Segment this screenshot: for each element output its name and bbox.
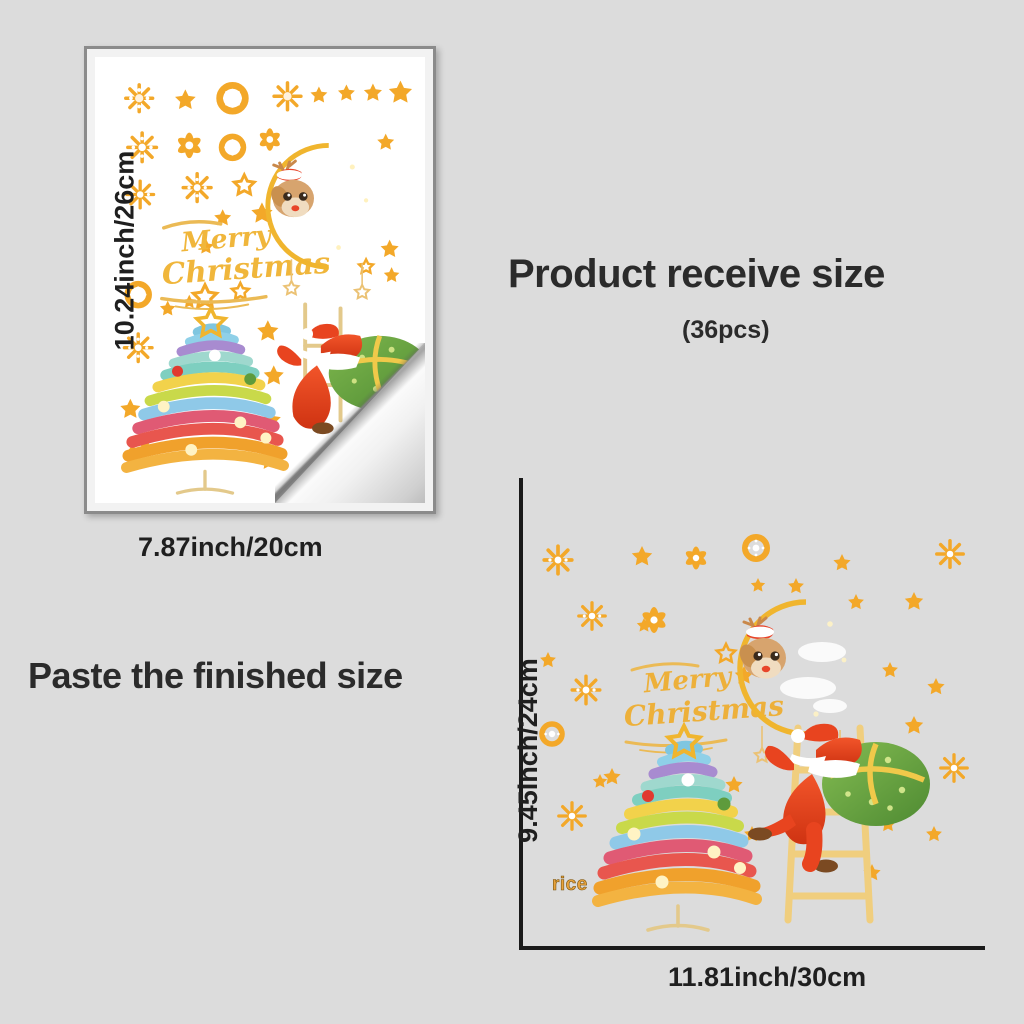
watermark-text: rice xyxy=(552,874,588,896)
piece-count-label: (36pcs) xyxy=(682,316,770,345)
sheet-height-label: 10.24inch/26cm xyxy=(109,151,140,351)
sticker-sheet-paper: Merry Christmas xyxy=(95,57,425,503)
page-title: Product receive size xyxy=(508,252,885,297)
applied-santa xyxy=(748,724,930,873)
applied-artwork: Merry Christmas xyxy=(530,520,982,940)
applied-width-label: 11.81inch/30cm xyxy=(668,962,866,993)
applied-tree xyxy=(598,726,756,930)
sheet-santa xyxy=(277,304,425,434)
product-size-infographic: Merry Christmas xyxy=(0,0,1024,1024)
sheet-width-label: 7.87inch/20cm xyxy=(138,532,323,563)
sticker-sheet-artwork: Merry Christmas xyxy=(95,57,425,501)
measure-line-horizontal xyxy=(519,946,985,950)
sheet-tree xyxy=(126,308,283,493)
section-title-paste-size: Paste the finished size xyxy=(28,655,403,697)
sticker-sheet-frame: Merry Christmas xyxy=(84,46,436,514)
